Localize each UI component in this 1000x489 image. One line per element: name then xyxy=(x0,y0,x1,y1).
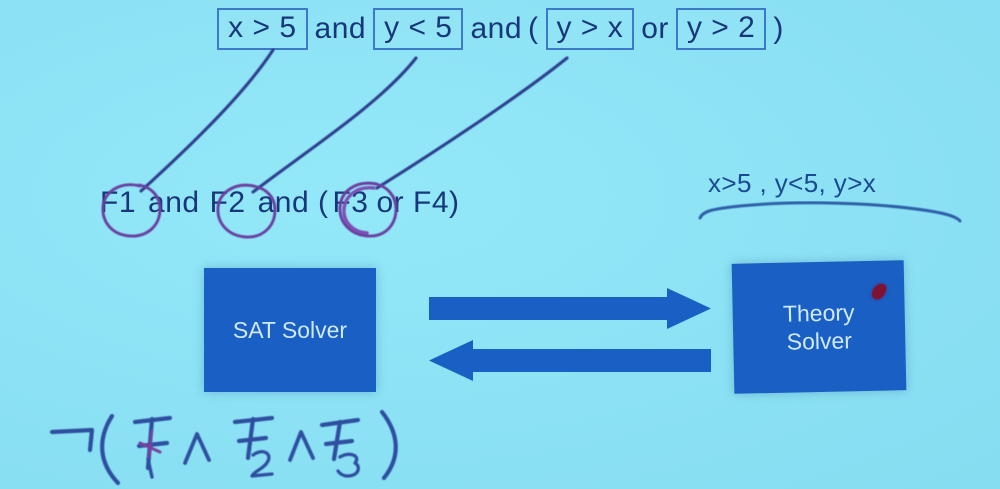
connective-and-2: and xyxy=(467,12,525,46)
theory-queries-label: Theory Queries xyxy=(485,301,595,319)
note-underline-stroke xyxy=(700,203,960,221)
constraint-token-y-gt-x: y > x xyxy=(546,8,635,50)
handwritten-assignment-note: x>5 , y<5, y>x xyxy=(708,168,876,199)
theory-solver-label-line1: Theory xyxy=(783,298,855,328)
ink-overlay xyxy=(0,0,1000,489)
theory-solver-label-line2: Solver xyxy=(783,326,855,356)
unsat-explanation-label: UNSAT Explanation xyxy=(484,353,624,371)
slide-canvas: x > 5andy < 5and(y > xory > 2) F1andF2an… xyxy=(0,0,1000,489)
f-connective-and-2: and ( xyxy=(246,186,333,220)
connector-x-gt-5-to-f1 xyxy=(141,50,273,191)
theory-solver-label: Theory Solver xyxy=(783,298,856,356)
connective-and-1: and xyxy=(312,12,370,46)
f-token-f1: F1 xyxy=(100,186,136,220)
connector-y-lt-5-to-f2 xyxy=(253,58,416,192)
f-tail-or-f4: or F4) xyxy=(369,186,460,220)
connective-or: or xyxy=(638,12,672,46)
constraint-token-x-gt-5: x > 5 xyxy=(217,8,307,50)
sat-solver-label: SAT Solver xyxy=(233,316,347,344)
close-paren: ) xyxy=(770,12,787,46)
formula-line: x > 5andy < 5and(y > xory > 2) xyxy=(0,8,1000,50)
constraint-token-y-lt-5: y < 5 xyxy=(373,8,463,50)
f-token-f3: F3 xyxy=(332,186,368,220)
theory-solver-box[interactable]: Theory Solver xyxy=(732,260,907,394)
f-token-f2: F2 xyxy=(210,186,246,220)
constraint-token-y-gt-2: y > 2 xyxy=(676,8,766,50)
abstracted-formula-line: F1andF2and (F3or F4) xyxy=(100,186,460,220)
bottom-handwritten-formula xyxy=(52,412,396,483)
sat-solver-box[interactable]: SAT Solver xyxy=(204,268,376,392)
connector-y-gt-x-to-f3 xyxy=(377,58,567,188)
f-connective-and-1: and xyxy=(136,186,210,220)
open-paren: ( xyxy=(525,12,542,46)
